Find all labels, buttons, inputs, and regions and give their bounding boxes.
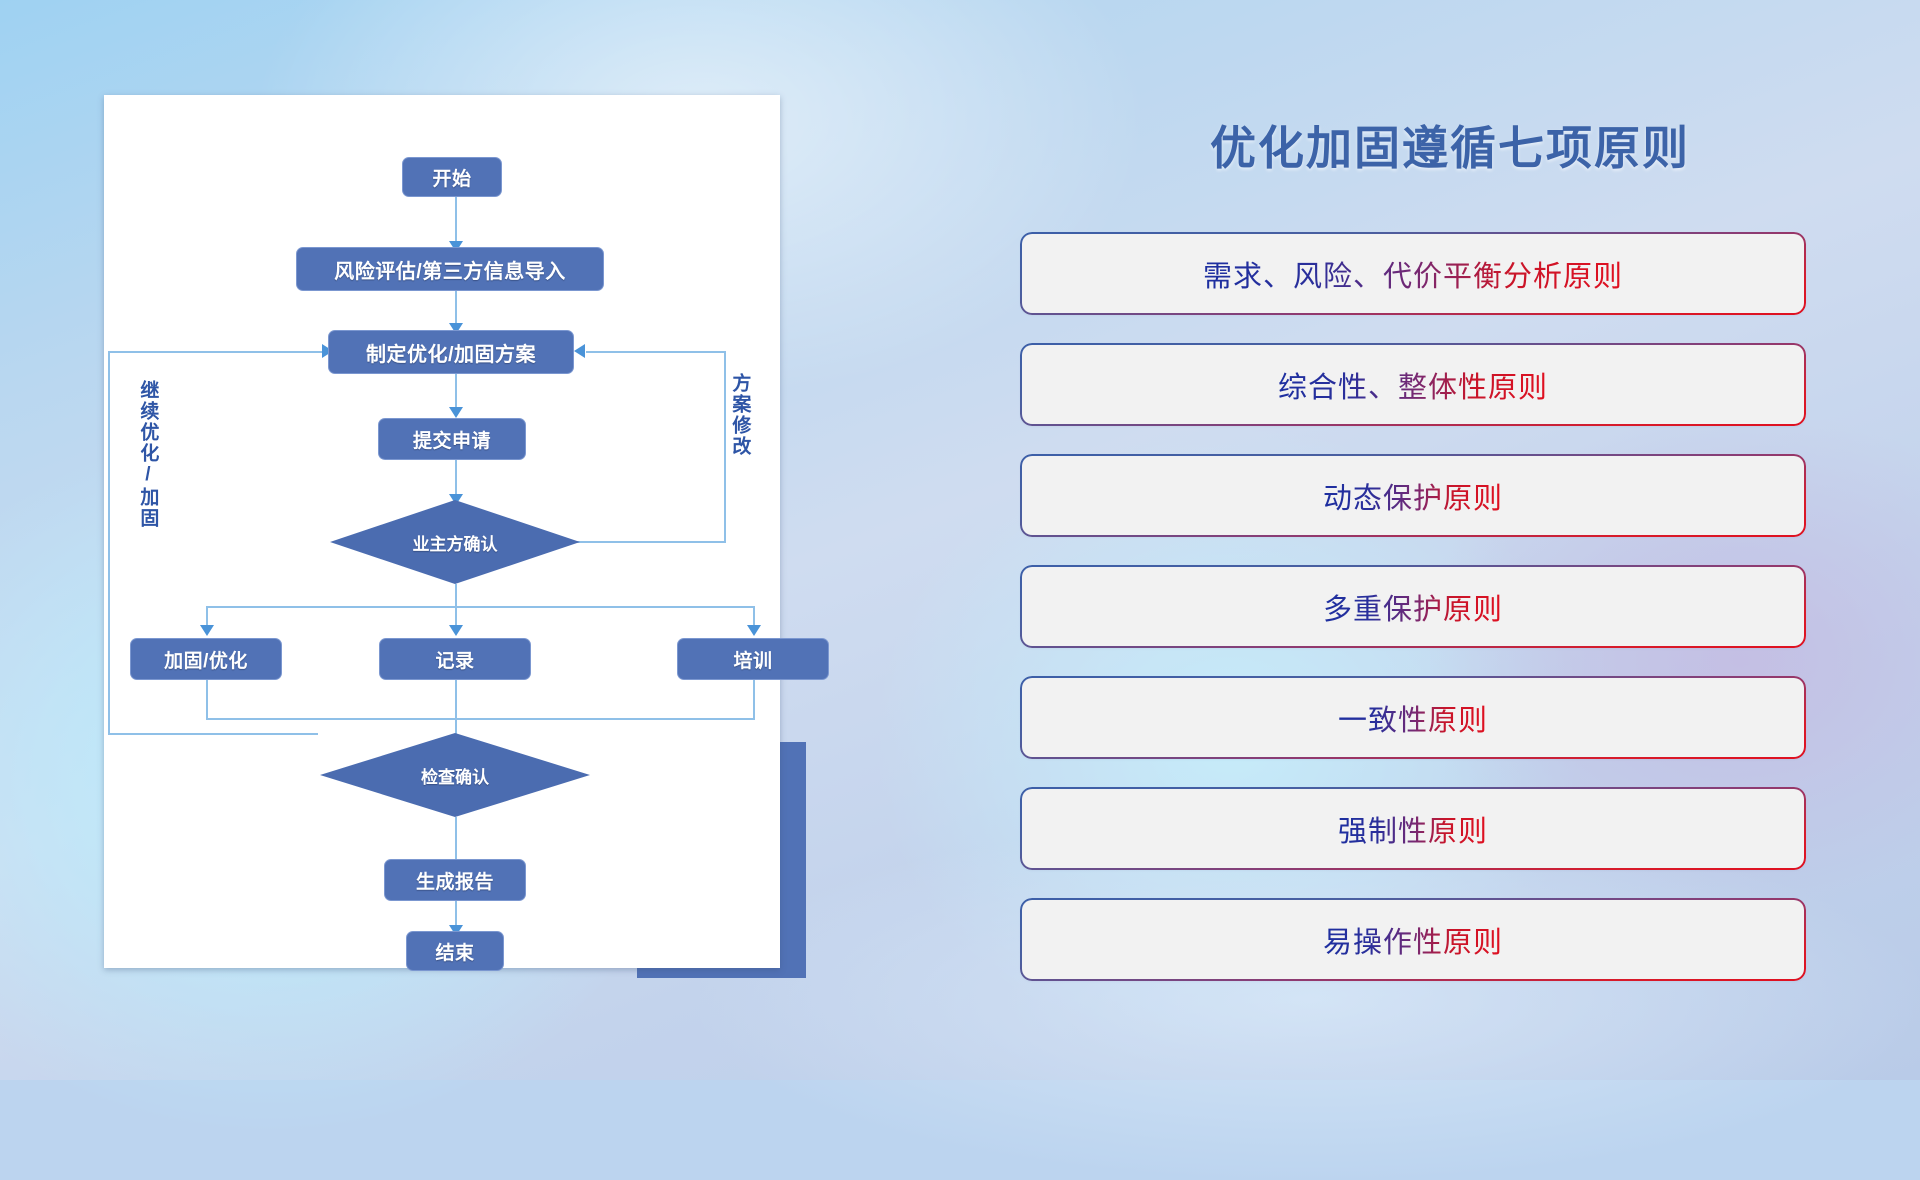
principle-item-6[interactable]: 强制性原则 — [1022, 789, 1804, 868]
connector-branch-bus — [206, 606, 755, 608]
principle-item-3-label: 动态保护原则 — [1323, 475, 1503, 517]
connector-owner-right — [576, 541, 726, 543]
connector-left-loop-vertical — [108, 351, 110, 735]
flow-node-generate-report-label: 生成报告 — [416, 867, 494, 894]
flow-node-check-confirm[interactable]: 检查确认 — [320, 733, 590, 817]
connector-reinforce-down — [206, 680, 208, 720]
flow-node-risk-assessment[interactable]: 风险评估/第三方信息导入 — [296, 247, 604, 291]
flowchart-card: 开始 风险评估/第三方信息导入 制定优化/加固方案 提交申请 业主方确认 加固/… — [104, 95, 780, 968]
arrowhead-to-record — [449, 625, 463, 636]
connector-owner-down — [455, 584, 457, 608]
connector-owner-right-up — [724, 351, 726, 543]
flow-node-submit-application-label: 提交申请 — [413, 426, 491, 453]
page-title: 优化加固遵循七项原则 — [1130, 112, 1770, 178]
flow-node-end[interactable]: 结束 — [406, 931, 504, 971]
arrowhead-to-training — [747, 625, 761, 636]
flow-node-check-confirm-label: 检查确认 — [421, 763, 489, 788]
flow-node-start-label: 开始 — [432, 164, 471, 191]
edge-label-plan-revision: 方案修改 — [730, 373, 749, 457]
flow-node-end-label: 结束 — [435, 938, 474, 965]
principle-item-2[interactable]: 综合性、整体性原则 — [1022, 345, 1804, 424]
arrowhead-to-reinforce — [200, 625, 214, 636]
principle-item-1-label: 需求、风险、代价平衡分析原则 — [1203, 253, 1623, 295]
principle-item-6-label: 强制性原则 — [1338, 808, 1488, 850]
flow-node-reinforce-label: 加固/优化 — [164, 646, 248, 673]
flow-node-record-label: 记录 — [435, 646, 474, 673]
flow-node-start[interactable]: 开始 — [402, 157, 502, 197]
flow-node-owner-confirm-label: 业主方确认 — [413, 530, 498, 555]
principle-item-4[interactable]: 多重保护原则 — [1022, 567, 1804, 646]
edge-label-continue-optimize: 继续优化/加固 — [138, 380, 157, 529]
flow-node-owner-confirm[interactable]: 业主方确认 — [330, 500, 580, 584]
flow-node-plan-label: 制定优化/加固方案 — [366, 338, 536, 367]
principle-item-2-label: 综合性、整体性原则 — [1278, 364, 1548, 406]
principle-item-1[interactable]: 需求、风险、代价平衡分析原则 — [1022, 234, 1804, 313]
principle-item-7-label: 易操作性原则 — [1323, 919, 1503, 961]
flow-node-submit-application[interactable]: 提交申请 — [378, 418, 526, 460]
principle-item-7[interactable]: 易操作性原则 — [1022, 900, 1804, 979]
connector-risk-to-plan — [455, 291, 457, 327]
flow-node-plan[interactable]: 制定优化/加固方案 — [328, 330, 574, 374]
flow-node-record[interactable]: 记录 — [379, 638, 531, 680]
flow-node-generate-report[interactable]: 生成报告 — [384, 859, 526, 901]
flow-node-training[interactable]: 培训 — [677, 638, 829, 680]
flow-node-reinforce[interactable]: 加固/优化 — [130, 638, 282, 680]
flow-node-risk-assessment-label: 风险评估/第三方信息导入 — [334, 255, 566, 284]
principle-item-5-label: 一致性原则 — [1338, 697, 1488, 739]
principle-item-4-label: 多重保护原则 — [1323, 586, 1503, 628]
connector-start-to-risk — [455, 197, 457, 245]
connector-left-loop-to-plan — [108, 351, 330, 353]
connector-right-to-plan — [586, 351, 726, 353]
flow-node-training-label: 培训 — [733, 646, 772, 673]
arrowhead-right-to-plan — [574, 344, 585, 358]
connector-training-down — [753, 680, 755, 720]
arrowhead-plan-to-submit — [449, 407, 463, 418]
principle-list: 需求、风险、代价平衡分析原则 综合性、整体性原则 动态保护原则 多重保护原则 一… — [1022, 234, 1804, 1011]
principle-item-5[interactable]: 一致性原则 — [1022, 678, 1804, 757]
connector-merge-bus — [206, 718, 755, 720]
connector-check-to-left-loop — [108, 733, 318, 735]
principle-item-3[interactable]: 动态保护原则 — [1022, 456, 1804, 535]
